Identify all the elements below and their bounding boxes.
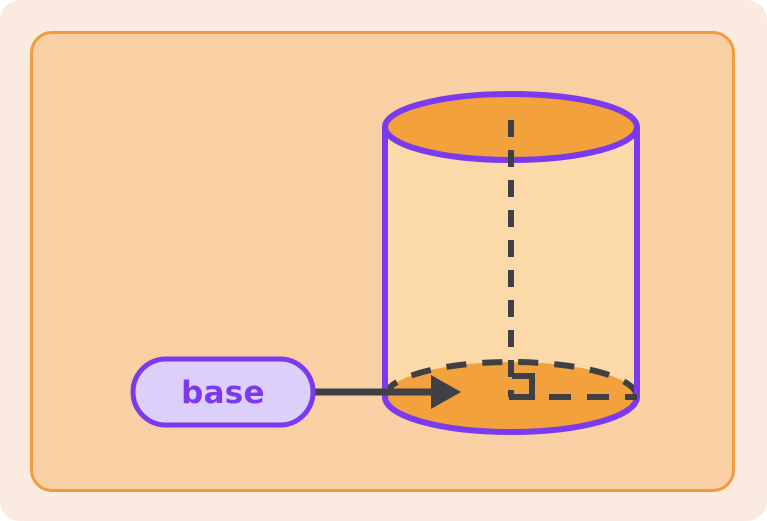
base-label-badge[interactable]: base: [133, 359, 313, 425]
cylinder-figure: base: [0, 0, 767, 521]
diagram-page: base: [0, 0, 767, 521]
base-label-text: base: [181, 375, 265, 411]
